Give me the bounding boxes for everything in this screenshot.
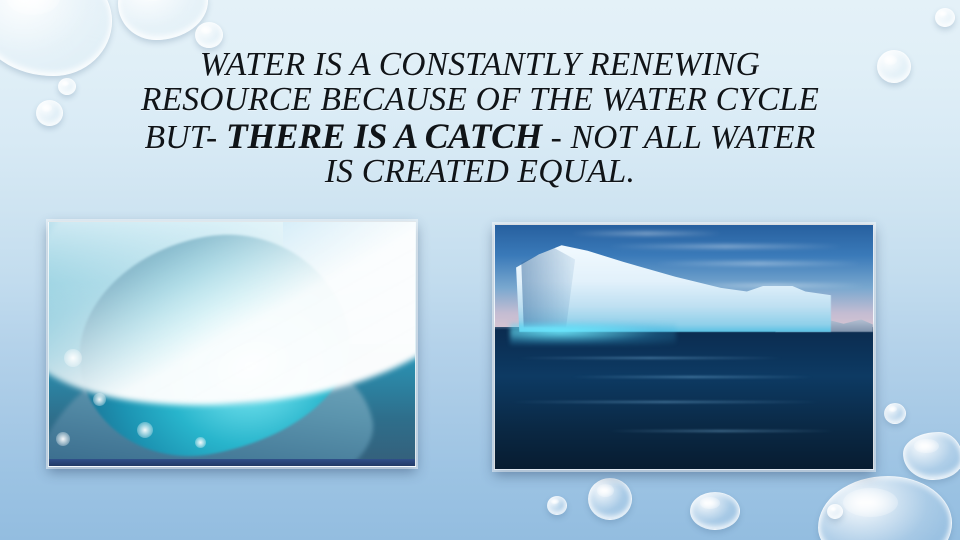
bubble-right-upper-sm-icon xyxy=(935,8,955,27)
iceberg-ripple-2 xyxy=(571,376,813,378)
wave-spray-3 xyxy=(137,422,153,438)
page-title-text: IS CREATED EQUAL. xyxy=(325,153,635,190)
bubble-top-medium-icon xyxy=(118,0,208,40)
bubble-bottom-medium-icon xyxy=(588,478,632,520)
page-title-line-4: IS CREATED EQUAL. xyxy=(28,155,932,190)
ocean-wave-photo-alt: Large turquoise ocean wave barreling wit… xyxy=(49,222,50,223)
page-title-line-3: BUT- THERE IS A CATCH - NOT ALL WATER xyxy=(28,118,932,156)
page-title-line-2: RESOURCE BECAUSE OF THE WATER CYCLE xyxy=(28,83,932,118)
iceberg-cloud-2 xyxy=(654,262,862,265)
bubble-bottom-flat-icon xyxy=(690,492,740,530)
iceberg-ripple-3 xyxy=(510,401,820,403)
ocean-wave-photo: Large turquoise ocean wave barreling wit… xyxy=(48,221,416,467)
page-title-emphasis: THERE IS A CATCH xyxy=(226,116,542,156)
bubble-right-tiny-icon xyxy=(884,403,906,424)
page-title-text: WATER IS A CONSTANTLY RENEWING xyxy=(200,46,760,83)
page-title-text: - NOT ALL WATER xyxy=(542,119,815,156)
page-title: WATER IS A CONSTANTLY RENEWINGRESOURCE B… xyxy=(28,48,932,190)
page-title-line-1: WATER IS A CONSTANTLY RENEWING xyxy=(28,48,932,83)
page-title-text: BUT- xyxy=(145,119,226,156)
page-title-text: RESOURCE BECAUSE OF THE WATER CYCLE xyxy=(141,81,819,118)
iceberg-cloud-1 xyxy=(608,245,842,248)
bubble-bottomright-big-icon xyxy=(818,476,952,540)
wave-photo-bottom-edge xyxy=(49,459,415,466)
iceberg-waterline-glow xyxy=(510,323,676,345)
bubble-top-small-icon xyxy=(195,22,223,48)
bubble-bottom-mini-icon xyxy=(827,504,843,519)
iceberg-cloud-4 xyxy=(571,232,722,235)
wave-spray-1 xyxy=(64,349,82,367)
bubble-bottom-tiny-icon xyxy=(547,496,567,515)
slide-canvas: WATER IS A CONSTANTLY RENEWINGRESOURCE B… xyxy=(0,0,960,540)
iceberg-ripple-1 xyxy=(518,357,783,359)
iceberg-ripple-4 xyxy=(608,430,835,432)
iceberg-photo: White iceberg floating in dark blue pola… xyxy=(494,224,874,470)
bubble-right-medium-icon xyxy=(903,432,960,480)
wave-spray-2 xyxy=(93,393,106,406)
